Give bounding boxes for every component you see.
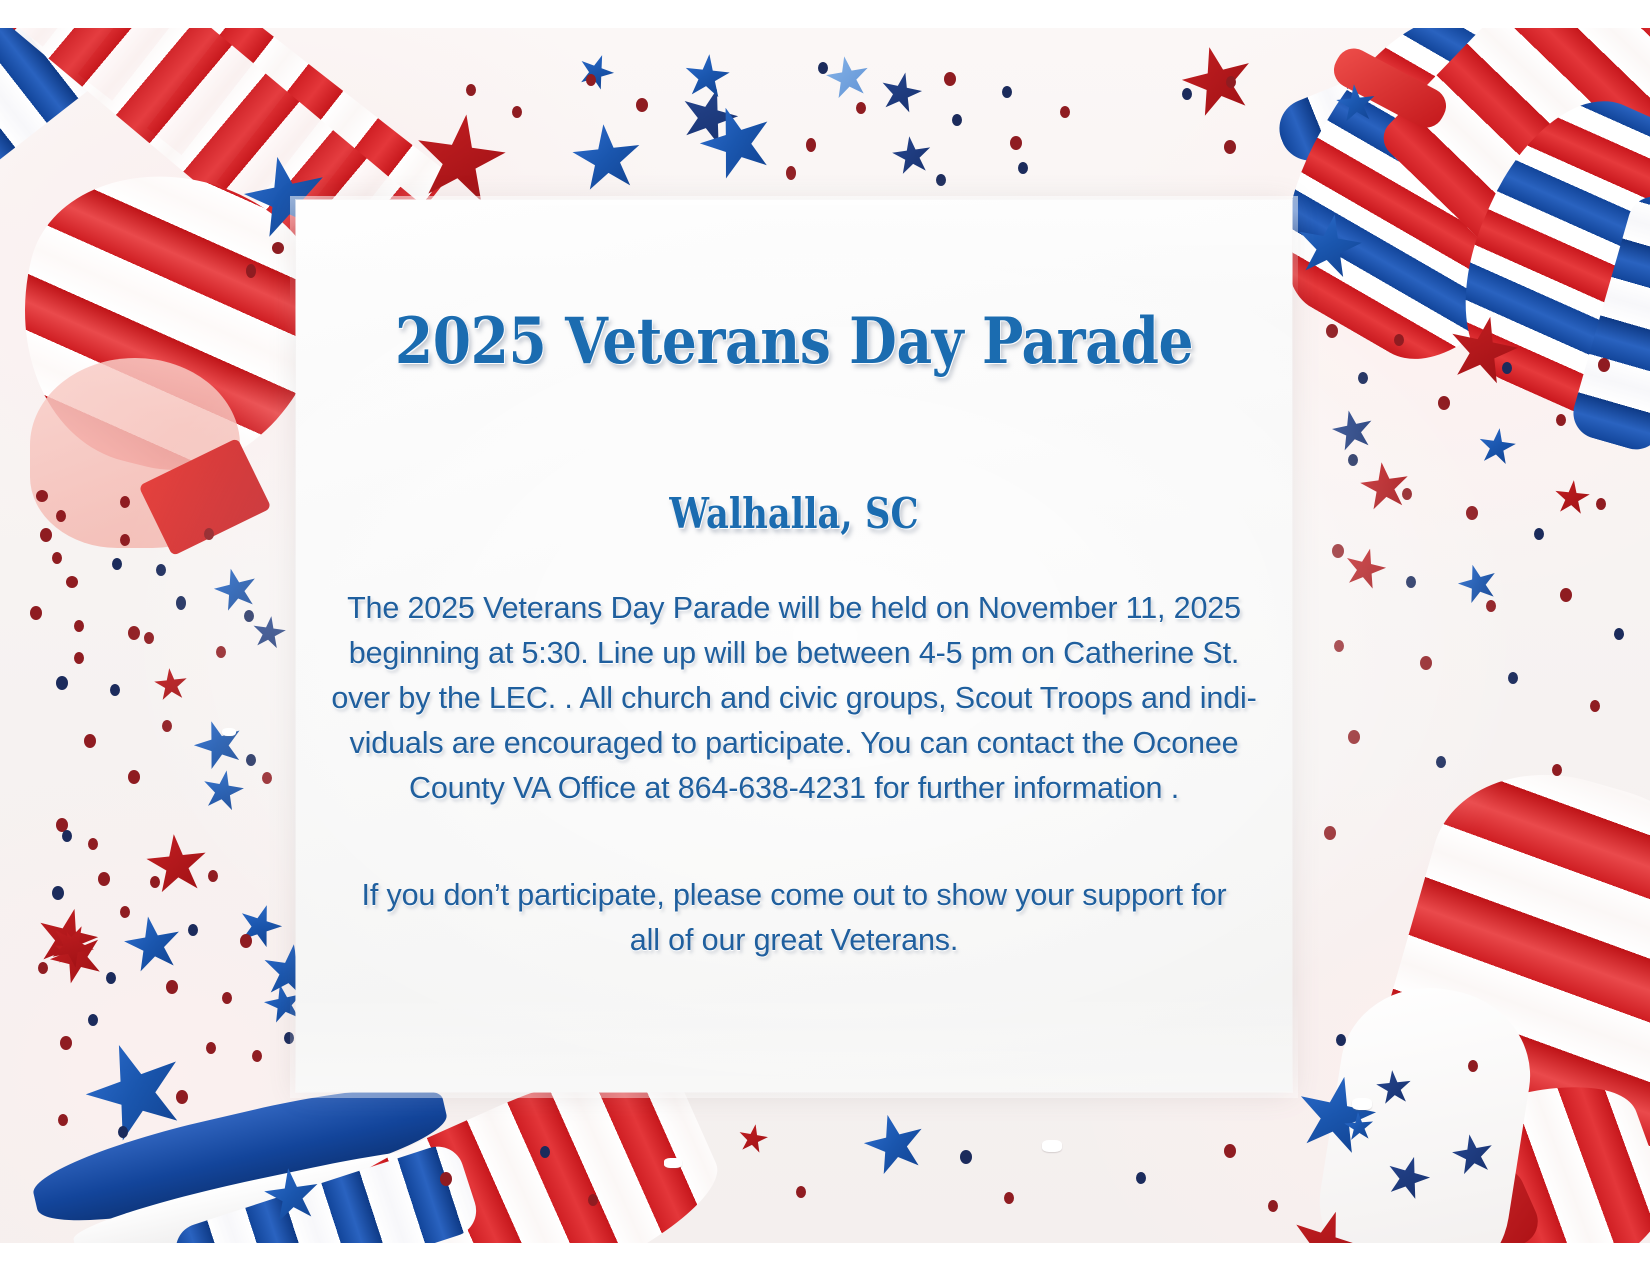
confetti-dot (1438, 396, 1450, 410)
confetti-dot (540, 1146, 550, 1158)
blue-star-icon (1334, 82, 1378, 126)
red-star-icon (143, 831, 211, 899)
red-ribbon-band-bottom-right (1285, 1161, 1546, 1243)
blue-star-icon (199, 767, 248, 816)
confetti-dot (98, 872, 110, 886)
confetti-dot (586, 74, 596, 86)
blue-star-icon (260, 1164, 323, 1227)
blue-star-icon (250, 614, 288, 652)
red-star-icon (1357, 459, 1413, 515)
confetti-dot (56, 510, 66, 522)
confetti-dot (1466, 506, 1478, 520)
confetti-dot (1406, 576, 1416, 588)
confetti-dot (944, 72, 956, 86)
patriotic-background: 2025 Veterans Day Parade Walhalla, SC Th… (0, 28, 1650, 1243)
confetti-dot (162, 720, 172, 732)
red-star-icon (152, 666, 189, 703)
confetti-curl (1042, 1140, 1062, 1152)
confetti-dot (1402, 488, 1412, 500)
red-star-icon (1174, 38, 1261, 125)
confetti-dot (1224, 140, 1236, 154)
confetti-dot (1348, 454, 1358, 466)
body-line: If you don’t participate, please come ou… (311, 873, 1277, 918)
red-star-icon (29, 901, 104, 976)
red-star-icon (53, 935, 85, 967)
confetti-dot (60, 1036, 72, 1050)
confetti-dot (1394, 334, 1404, 346)
blue-star-icon (1328, 406, 1378, 456)
blue-swoosh-ribbon-bottom-left (26, 1068, 453, 1240)
blue-star-icon (1449, 1131, 1498, 1180)
confetti-dot (1534, 528, 1544, 540)
confetti-curl (664, 1158, 682, 1168)
confetti-dot (244, 610, 254, 622)
confetti-dot (128, 626, 140, 640)
body-paragraph-2: If you don’t participate, please come ou… (311, 811, 1277, 963)
confetti-dot (952, 114, 962, 126)
confetti-dot (1560, 588, 1572, 602)
blue-star-icon (1291, 209, 1367, 285)
confetti-dot (56, 818, 68, 832)
red-star-icon (42, 922, 112, 992)
confetti-dot (246, 264, 256, 278)
confetti-dot (1182, 88, 1192, 100)
confetti-dot (1004, 1192, 1014, 1204)
red-stripe-ribbon-bottom-right-cone (1345, 745, 1650, 1241)
white-swoosh-ribbon-bottom-left (69, 1130, 500, 1243)
confetti-dot (52, 552, 62, 564)
confetti-dot (1614, 628, 1624, 640)
confetti-dot (84, 734, 96, 748)
blue-star-icon (232, 898, 287, 953)
confetti-dot (588, 1194, 598, 1206)
confetti-dot (246, 754, 256, 766)
location-subtitle: Walhalla, SC (376, 379, 1213, 538)
confetti-dot (1556, 414, 1566, 426)
confetti-dot (58, 1114, 68, 1126)
blue-star-icon (209, 563, 262, 616)
confetti-dot (1336, 1034, 1346, 1046)
confetti-dot (252, 1050, 262, 1062)
blue-star-icon (569, 121, 646, 198)
confetti-dot (1060, 106, 1070, 118)
blue-star-icon (72, 1028, 200, 1156)
confetti-dot (88, 838, 98, 850)
blue-star-icon (187, 713, 250, 776)
confetti-dot (806, 138, 816, 152)
white-cone-bottom-right (1308, 975, 1543, 1243)
confetti-dot (240, 934, 252, 948)
confetti-dot (62, 830, 72, 842)
page-title: 2025 Veterans Day Parade (366, 200, 1223, 379)
body-line: over by the LEC. . All church and civic … (311, 676, 1277, 721)
confetti-dot (206, 1042, 216, 1054)
confetti-dot (1436, 756, 1446, 768)
confetti-dot (74, 620, 84, 632)
blue-star-icon (876, 68, 926, 118)
confetti-dot (176, 596, 186, 610)
blue-star-icon (682, 52, 733, 103)
blue-star-icon (1476, 426, 1519, 469)
confetti-dot (272, 242, 284, 254)
confetti-dot (208, 870, 218, 882)
confetti-dot (1010, 136, 1022, 150)
blue-star-icon (889, 133, 934, 178)
blue-star-icon (673, 81, 745, 153)
confetti-dot (30, 606, 42, 620)
blue-star-icon (573, 49, 619, 95)
red-star-icon (1340, 544, 1391, 595)
confetti-dot (38, 962, 48, 974)
pink-ribbon-highlight-left (30, 358, 240, 548)
red-star-icon (736, 1122, 771, 1157)
confetti-dot (786, 166, 796, 180)
confetti-dot (466, 84, 476, 96)
confetti-dot (1136, 1172, 1146, 1184)
confetti-curl (1352, 1098, 1372, 1110)
confetti-dot (144, 632, 154, 644)
content-card: 2025 Veterans Day Parade Walhalla, SC Th… (296, 200, 1292, 1092)
confetti-dot (106, 972, 116, 984)
red-star-icon (43, 917, 102, 976)
confetti-dot (204, 528, 214, 540)
confetti-dot (66, 576, 78, 588)
veterans-day-parade-flyer: 2025 Veterans Day Parade Walhalla, SC Th… (0, 0, 1650, 1275)
confetti-dot (1332, 544, 1344, 558)
confetti-dot (856, 102, 866, 114)
blue-star-icon (1289, 1069, 1384, 1164)
confetti-dot (36, 490, 48, 502)
red-ribbon-tip-left (138, 438, 271, 556)
confetti-dot (120, 534, 130, 546)
confetti-dot (222, 992, 232, 1004)
confetti-dot (1324, 826, 1336, 840)
confetti-dot (216, 646, 226, 658)
confetti-dot (1268, 1200, 1278, 1212)
blue-stripe-ribbon-top-right (1270, 28, 1599, 170)
confetti-dot (1334, 640, 1344, 652)
confetti-dot (188, 924, 198, 936)
red-star-icon (1552, 478, 1592, 518)
confetti-dot (74, 652, 84, 664)
confetti-dot (120, 496, 130, 508)
body-line: The 2025 Veterans Day Parade will be hel… (311, 586, 1277, 631)
body-line: beginning at 5:30. Line up will be betwe… (311, 631, 1277, 676)
red-stripe-ribbon-top-right-a (1375, 28, 1650, 267)
confetti-dot (262, 772, 272, 784)
confetti-dot (636, 98, 648, 112)
confetti-dot (1326, 324, 1338, 338)
confetti-dot (1590, 700, 1600, 712)
confetti-dot (1002, 86, 1012, 98)
confetti-dot (284, 1032, 294, 1044)
confetti-curl (222, 728, 236, 736)
blue-star-icon (1374, 1068, 1414, 1108)
confetti-dot (1420, 656, 1432, 670)
flag-ribbon-roll-top-right-outer (1427, 72, 1650, 444)
red-ribbon-sliver-top-right (1328, 42, 1453, 134)
blue-star-icon (1343, 1111, 1375, 1143)
confetti-dot (40, 528, 52, 542)
body-line: County VA Office at 864-638-4231 for fur… (311, 766, 1277, 811)
confetti-dot (818, 62, 828, 74)
blue-star-icon (857, 1107, 932, 1182)
confetti-dot (52, 886, 64, 900)
confetti-dot (1598, 358, 1610, 372)
blue-star-icon (119, 911, 186, 978)
blue-star-icon (1453, 559, 1502, 608)
blue-star-icon (1381, 1151, 1435, 1205)
blue-stripe-ribbon-top-right-tail (1567, 190, 1650, 455)
body-line: all of our great Veterans. (311, 918, 1277, 963)
confetti-dot (166, 980, 178, 994)
confetti-dot (1502, 362, 1512, 374)
red-star-icon (408, 108, 512, 212)
confetti-dot (1226, 76, 1236, 88)
red-stripe-ribbon-bottom-right-curl (1306, 1056, 1650, 1243)
red-star-icon (1441, 309, 1524, 392)
confetti-dot (150, 876, 160, 888)
confetti-dot (440, 1172, 452, 1186)
body-paragraph-1: The 2025 Veterans Day Parade will be hel… (311, 538, 1277, 811)
confetti-dot (1486, 600, 1496, 612)
confetti-dot (1224, 1144, 1236, 1158)
confetti-dot (110, 684, 120, 696)
confetti-dot (118, 1126, 128, 1138)
confetti-dot (936, 174, 946, 186)
light-blue-star-icon (823, 53, 874, 104)
confetti-dot (176, 1090, 188, 1104)
blue-star-icon (690, 96, 783, 189)
confetti-dot (960, 1150, 972, 1164)
confetti-dot (1552, 764, 1562, 776)
confetti-dot (1468, 1060, 1478, 1072)
confetti-dot (1358, 372, 1368, 384)
confetti-dot (1018, 162, 1028, 174)
confetti-dot (796, 1186, 806, 1198)
confetti-dot (120, 906, 130, 918)
confetti-dot (112, 558, 122, 570)
confetti-dot (512, 106, 522, 118)
confetti-dot (1348, 730, 1360, 744)
confetti-dot (1596, 498, 1606, 510)
card-content: 2025 Veterans Day Parade Walhalla, SC Th… (296, 200, 1292, 963)
body-line: viduals are encouraged to participate. Y… (311, 721, 1277, 766)
confetti-dot (88, 1014, 98, 1026)
flag-ribbon-roll-top-right-main (1242, 28, 1624, 392)
confetti-dot (128, 770, 140, 784)
confetti-dot (56, 676, 68, 690)
confetti-dot (1508, 672, 1518, 684)
confetti-dot (156, 564, 166, 576)
blue-stripe-ribbon-bottom-left-tail (169, 1140, 483, 1243)
blue-stripe-ribbon-top-left-corner (0, 28, 189, 172)
red-star-icon (1281, 1201, 1369, 1243)
